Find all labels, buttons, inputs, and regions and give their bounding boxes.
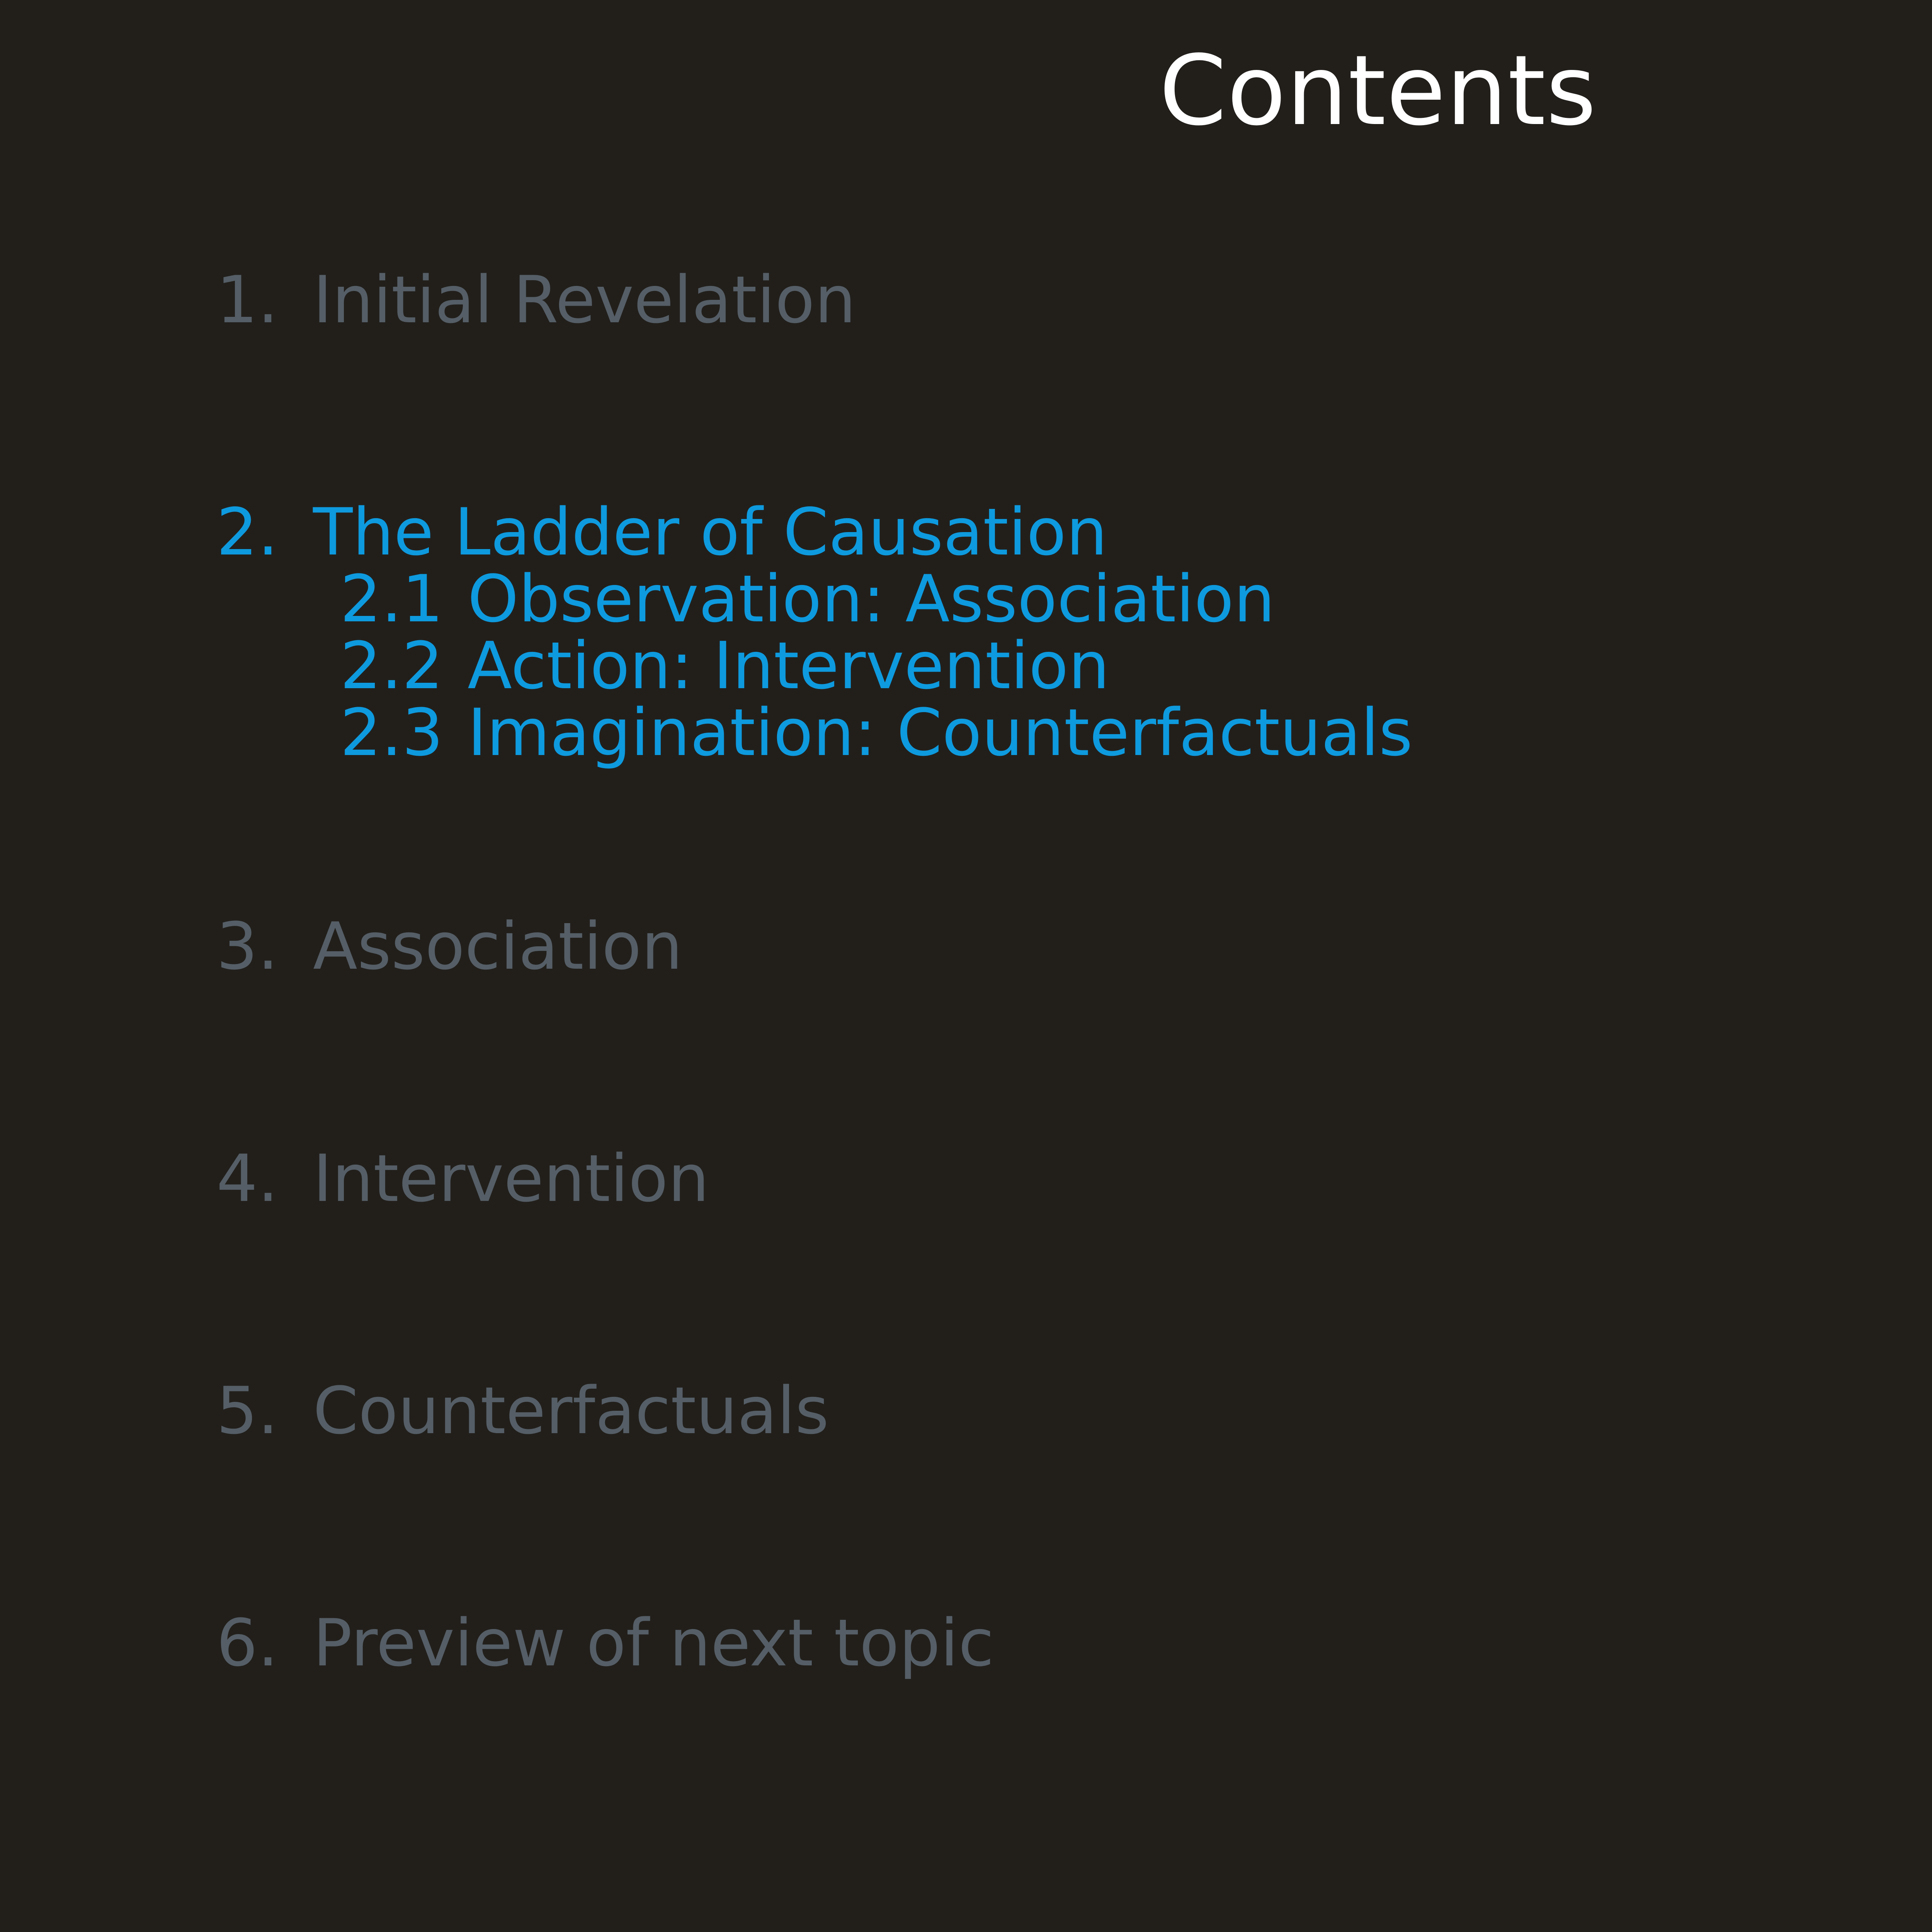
toc-label: Counterfactuals [313,1378,829,1444]
toc-number: 1. [216,267,313,333]
table-of-contents: 1.Initial Revelation 2.The Ladder of Cau… [216,267,1932,1677]
toc-section-4[interactable]: 4.Intervention [216,1145,1932,1212]
toc-number: 6. [216,1610,313,1677]
spacer [216,333,1932,499]
toc-sub-label: Imagination: Counterfactuals [468,695,1413,770]
toc-entry-association[interactable]: 3.Association [216,913,1932,980]
toc-section-2[interactable]: 2.The Ladder of Causation 2.1Observation… [216,499,1932,766]
toc-sub-label: Observation: Association [468,561,1275,637]
toc-subentry-imagination-counterfactuals[interactable]: 2.3Imagination: Counterfactuals [216,699,1932,766]
toc-number: 4. [216,1145,313,1212]
toc-section-3[interactable]: 3.Association [216,913,1932,980]
toc-entry-preview-of-next-topic[interactable]: 6.Preview of next topic [216,1610,1932,1677]
toc-label: Initial Revelation [313,267,856,333]
spacer [216,980,1932,1145]
toc-sub-number: 2.1 [340,566,468,633]
toc-sub-number: 2.3 [340,699,468,766]
toc-number: 2. [216,499,313,566]
toc-label: Intervention [313,1145,709,1212]
toc-label: The Ladder of Causation [313,499,1107,566]
toc-entry-initial-revelation[interactable]: 1.Initial Revelation [216,267,1932,333]
toc-number: 3. [216,913,313,980]
toc-entry-counterfactuals[interactable]: 5.Counterfactuals [216,1378,1932,1444]
toc-sub-number: 2.2 [340,633,468,699]
spacer [216,766,1932,913]
toc-section-5[interactable]: 5.Counterfactuals [216,1378,1932,1444]
toc-subentry-action-intervention[interactable]: 2.2Action: Intervention [216,633,1932,699]
spacer [216,1212,1932,1378]
beamer-slide: Contents [0,0,1932,1932]
page-title: Contents [0,43,1932,139]
toc-entry-intervention[interactable]: 4.Intervention [216,1145,1932,1212]
toc-label: Association [313,913,683,980]
toc-subentry-observation-association[interactable]: 2.1Observation: Association [216,566,1932,633]
toc-section-6[interactable]: 6.Preview of next topic [216,1610,1932,1677]
toc-sub-label: Action: Intervention [468,628,1110,704]
toc-label: Preview of next topic [313,1610,994,1677]
toc-number: 5. [216,1378,313,1444]
spacer [216,1444,1932,1610]
toc-section-1[interactable]: 1.Initial Revelation [216,267,1932,333]
toc-entry-the-ladder-of-causation[interactable]: 2.The Ladder of Causation [216,499,1932,566]
